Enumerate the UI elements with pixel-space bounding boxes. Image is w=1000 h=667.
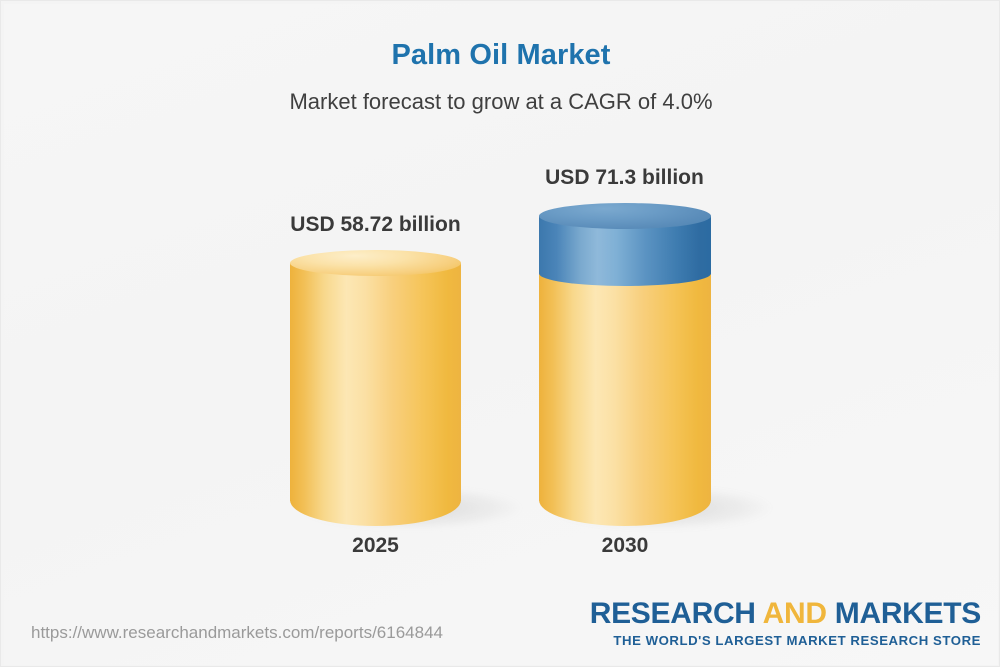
logo-word-markets: MARKETS bbox=[835, 597, 981, 630]
logo-tagline: THE WORLD'S LARGEST MARKET RESEARCH STOR… bbox=[590, 633, 981, 648]
bar-segment-seam-2030 bbox=[539, 261, 711, 286]
bar-category-label-2030: 2030 bbox=[539, 534, 711, 558]
brand-logo[interactable]: RESEARCH AND MARKETS THE WORLD'S LARGEST… bbox=[590, 599, 981, 648]
bar-value-label-2030: USD 71.3 billion bbox=[439, 166, 810, 190]
source-url[interactable]: https://www.researchandmarkets.com/repor… bbox=[31, 623, 443, 643]
logo-word-research: RESEARCH bbox=[590, 597, 756, 630]
bar-category-label-2025: 2025 bbox=[290, 534, 461, 558]
bar-bottom-cap-2030 bbox=[539, 500, 711, 526]
bar-body-2025[interactable] bbox=[290, 263, 461, 501]
bar-bottom-ellipse-2025 bbox=[290, 500, 461, 526]
bar-bottom-cap-2025 bbox=[290, 500, 461, 526]
bar-value-label-2025: USD 58.72 billion bbox=[190, 213, 561, 237]
logo-word-and: AND bbox=[763, 597, 827, 630]
logo-wordmark: RESEARCH AND MARKETS bbox=[590, 599, 981, 629]
chart-plot-area: USD 58.72 billion 2025 USD 71.3 billion bbox=[1, 1, 1000, 667]
bar-bottom-ellipse-2030 bbox=[539, 500, 711, 526]
bar-top-ellipse-2030[interactable] bbox=[539, 203, 711, 229]
bar-body-base-2030[interactable] bbox=[539, 273, 711, 501]
bar-top-ellipse-2025[interactable] bbox=[290, 250, 461, 276]
chart-canvas: Palm Oil Market Market forecast to grow … bbox=[0, 0, 1000, 667]
